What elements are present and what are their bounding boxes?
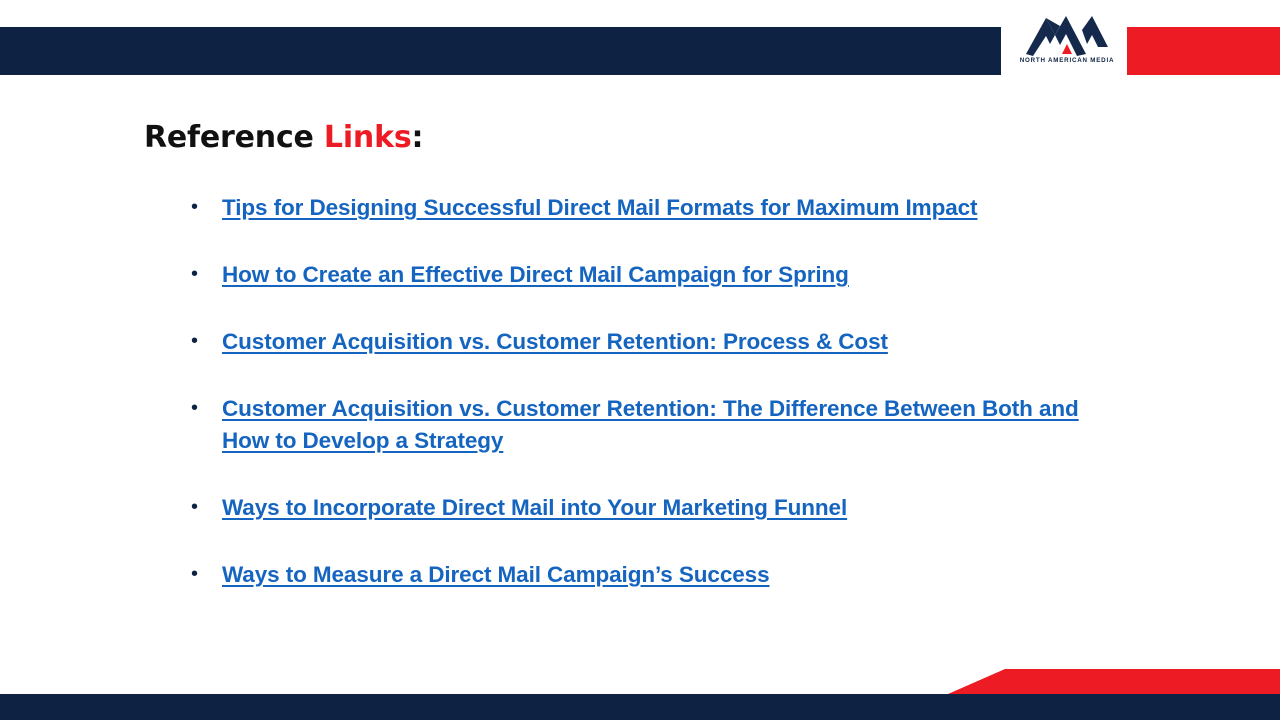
- bottom-navy-band: [0, 694, 1280, 720]
- reference-link-6[interactable]: Ways to Measure a Direct Mail Campaign’s…: [222, 562, 770, 587]
- list-item: • Customer Acquisition vs. Customer Rete…: [186, 327, 1146, 359]
- page-title: Reference Links:: [144, 120, 423, 155]
- bullet-icon: •: [191, 560, 198, 589]
- bullet-icon: •: [191, 260, 198, 289]
- slide-canvas: NORTH AMERICAN MEDIA Reference Links: • …: [0, 0, 1280, 720]
- list-item: • Ways to Measure a Direct Mail Campaign…: [186, 560, 1146, 592]
- reference-link-3[interactable]: Customer Acquisition vs. Customer Retent…: [222, 329, 888, 354]
- list-item: • Customer Acquisition vs. Customer Rete…: [186, 394, 1122, 458]
- mountain-m-icon: [1024, 14, 1110, 56]
- reference-link-4[interactable]: Customer Acquisition vs. Customer Retent…: [222, 396, 1079, 453]
- logo-wordmark: NORTH AMERICAN MEDIA: [1020, 57, 1115, 64]
- list-item: • How to Create an Effective Direct Mail…: [186, 260, 1146, 292]
- page-title-suffix: :: [412, 120, 424, 155]
- page-title-accent: Links: [324, 120, 412, 155]
- bullet-icon: •: [191, 193, 198, 222]
- top-red-block: [1127, 27, 1280, 75]
- top-navy-band: [0, 27, 1001, 75]
- bullet-icon: •: [191, 327, 198, 356]
- reference-link-2[interactable]: How to Create an Effective Direct Mail C…: [222, 262, 849, 287]
- page-title-primary: Reference: [144, 120, 324, 155]
- bottom-red-accent-shape: [948, 669, 1280, 694]
- bullet-icon: •: [191, 394, 198, 423]
- list-item: • Ways to Incorporate Direct Mail into Y…: [186, 493, 1146, 525]
- reference-links-list: • Tips for Designing Successful Direct M…: [186, 193, 1146, 592]
- list-item: • Tips for Designing Successful Direct M…: [186, 193, 1146, 225]
- bullet-icon: •: [191, 493, 198, 522]
- reference-link-5[interactable]: Ways to Incorporate Direct Mail into You…: [222, 495, 847, 520]
- north-american-media-logo: NORTH AMERICAN MEDIA: [1014, 14, 1120, 76]
- reference-link-1[interactable]: Tips for Designing Successful Direct Mai…: [222, 195, 977, 220]
